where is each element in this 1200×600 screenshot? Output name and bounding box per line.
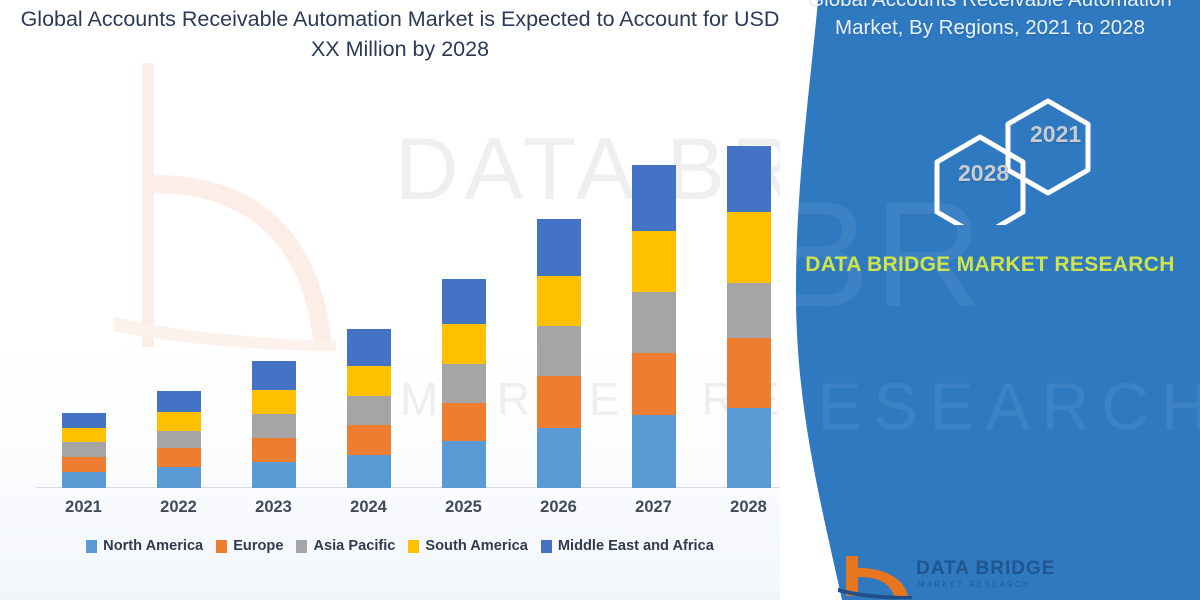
x-axis: 20212022202320242025202620272028: [36, 498, 796, 524]
plot-area: [36, 100, 796, 488]
chart-panel: DATA BRIDGE MARKET RESEARCH Global Accou…: [0, 0, 840, 600]
hexagon-label-back: 2021: [1030, 121, 1081, 148]
stacked-bar: [537, 219, 581, 488]
x-axis-tick-label: 2023: [226, 498, 321, 517]
bar-segment: [347, 396, 391, 425]
bar-segment: [157, 431, 201, 448]
legend-swatch-icon: [86, 540, 97, 553]
bar-segment: [442, 403, 486, 442]
bar-segment: [537, 276, 581, 326]
bar-segment: [632, 415, 676, 488]
legend-item[interactable]: South America: [408, 538, 527, 554]
bar-column: [511, 100, 606, 488]
bar-segment: [252, 361, 296, 390]
legend-item[interactable]: Middle East and Africa: [541, 538, 714, 554]
x-axis-tick-label: 2021: [36, 498, 131, 517]
bar-segment: [442, 441, 486, 488]
bar-segment: [157, 391, 201, 412]
hexagon-group: 2021 2028: [920, 95, 1120, 225]
legend-item-label: Asia Pacific: [313, 538, 395, 554]
bar-segment: [537, 376, 581, 427]
bar-column: [131, 100, 226, 488]
bar-segment: [537, 219, 581, 275]
legend-swatch-icon: [541, 540, 552, 553]
bar-segment: [62, 413, 106, 428]
footer-logo-subtext: MARKET RESEARCH: [918, 580, 1031, 589]
hexagon-outlines-icon: [920, 95, 1120, 225]
bar-segment: [157, 467, 201, 488]
bar-column: [321, 100, 416, 488]
x-axis-tick-label: 2024: [321, 498, 416, 517]
bar-segment: [252, 438, 296, 462]
bar-column: [36, 100, 131, 488]
bar-column: [226, 100, 321, 488]
legend-swatch-icon: [408, 540, 419, 553]
bar-segment: [727, 146, 771, 212]
bar-segment: [62, 457, 106, 472]
legend-swatch-icon: [216, 540, 227, 553]
legend-item[interactable]: North America: [86, 538, 203, 554]
bar-segment: [632, 292, 676, 353]
bar-segment: [252, 390, 296, 414]
stacked-bar: [157, 391, 201, 488]
footer-logo: DATA BRIDGE MARKET RESEARCH: [838, 552, 1168, 600]
bar-column: [606, 100, 701, 488]
bar-segment: [537, 428, 581, 488]
legend-swatch-icon: [296, 540, 307, 553]
bar-segment: [62, 472, 106, 488]
legend-item-label: Europe: [233, 538, 283, 554]
bar-segment: [347, 329, 391, 366]
bar-segment: [632, 353, 676, 415]
bar-segment: [727, 283, 771, 337]
bar-segment: [347, 425, 391, 455]
bar-segment: [727, 212, 771, 284]
footer-logo-text: DATA BRIDGE: [916, 558, 1055, 580]
bar-segment: [62, 442, 106, 457]
chart-legend: North AmericaEuropeAsia PacificSouth Ame…: [0, 538, 800, 554]
stacked-bar: [727, 146, 771, 488]
bar-segment: [727, 338, 771, 408]
legend-item-label: South America: [425, 538, 527, 554]
legend-item[interactable]: Asia Pacific: [296, 538, 395, 554]
bar-segment: [252, 462, 296, 488]
bar-segment: [442, 324, 486, 364]
bar-segment: [347, 455, 391, 488]
bar-segment: [347, 366, 391, 396]
bar-segment: [442, 279, 486, 325]
bar-segment: [62, 428, 106, 443]
legend-item[interactable]: Europe: [216, 538, 283, 554]
infographic-root: DATA BRIDGE MARKET RESEARCH Global Accou…: [0, 0, 1200, 600]
stacked-bar: [442, 279, 486, 488]
page-title: Global Accounts Receivable Automation Ma…: [0, 0, 800, 64]
stacked-bar: [347, 329, 391, 488]
legend-item-label: Middle East and Africa: [558, 538, 714, 554]
x-axis-tick-label: 2026: [511, 498, 606, 517]
x-axis-tick-label: 2022: [131, 498, 226, 517]
legend-item-label: North America: [103, 538, 203, 554]
bar-segment: [537, 326, 581, 376]
bar-segment: [157, 448, 201, 466]
stacked-bar: [632, 165, 676, 488]
bar-segment: [442, 364, 486, 403]
branding-panel: BR RESEARCH Global Accounts Receivable A…: [780, 0, 1200, 600]
x-axis-tick-label: 2027: [606, 498, 701, 517]
bar-segment: [252, 414, 296, 437]
bar-segment: [157, 412, 201, 430]
hexagon-label-front: 2028: [958, 160, 1009, 187]
brand-name: DATA BRIDGE MARKET RESEARCH: [800, 250, 1180, 279]
bar-segment: [727, 408, 771, 489]
stacked-bar: [252, 361, 296, 488]
panel-curve-shape: [780, 0, 1200, 600]
stacked-bar: [62, 413, 106, 488]
branding-title: Global Accounts Receivable Automation Ma…: [800, 0, 1180, 42]
bar-segment: [632, 165, 676, 231]
x-axis-tick-label: 2025: [416, 498, 511, 517]
bar-column: [416, 100, 511, 488]
bar-segment: [632, 231, 676, 292]
